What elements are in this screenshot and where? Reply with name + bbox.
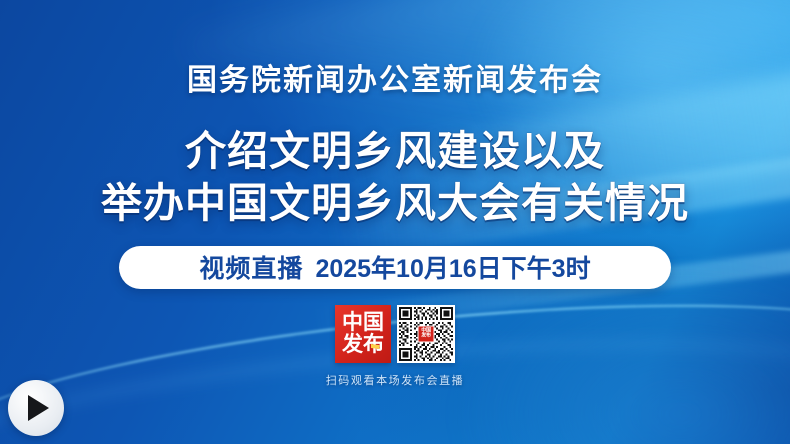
poster-content: 国务院新闻办公室新闻发布会 介绍文明乡风建设以及 举办中国文明乡风大会有关情况 … bbox=[0, 64, 790, 388]
qr-center-logo: 中国 发布 bbox=[418, 325, 435, 342]
event-kicker: 国务院新闻办公室新闻发布会 bbox=[0, 64, 790, 97]
headline-line-2: 举办中国文明乡风大会有关情况 bbox=[0, 177, 790, 229]
headline-line-1: 介绍文明乡风建设以及 bbox=[0, 125, 790, 177]
live-datetime: 2025年10月16日下午3时 bbox=[315, 249, 590, 285]
live-pill-wrapper: 视频直播 2025年10月16日下午3时 bbox=[0, 246, 790, 289]
flag-icon bbox=[371, 344, 380, 351]
china-release-logo: 中国 发布 bbox=[335, 305, 391, 363]
brand-qr-row: 中国 发布 bbox=[0, 305, 790, 363]
live-label: 视频直播 bbox=[199, 249, 303, 285]
scan-caption: 扫码观看本场发布会直播 bbox=[0, 372, 790, 388]
play-button[interactable] bbox=[8, 380, 64, 436]
broadcast-poster: 国务院新闻办公室新闻发布会 介绍文明乡风建设以及 举办中国文明乡风大会有关情况 … bbox=[0, 0, 790, 444]
qr-center-line-2: 发布 bbox=[421, 334, 430, 339]
qr-code-icon[interactable]: 中国 发布 bbox=[397, 305, 455, 363]
play-icon bbox=[28, 395, 49, 421]
live-broadcast-pill[interactable]: 视频直播 2025年10月16日下午3时 bbox=[119, 246, 671, 289]
page-title: 介绍文明乡风建设以及 举办中国文明乡风大会有关情况 bbox=[0, 125, 790, 230]
brand-logo-line-1: 中国 bbox=[342, 312, 384, 334]
